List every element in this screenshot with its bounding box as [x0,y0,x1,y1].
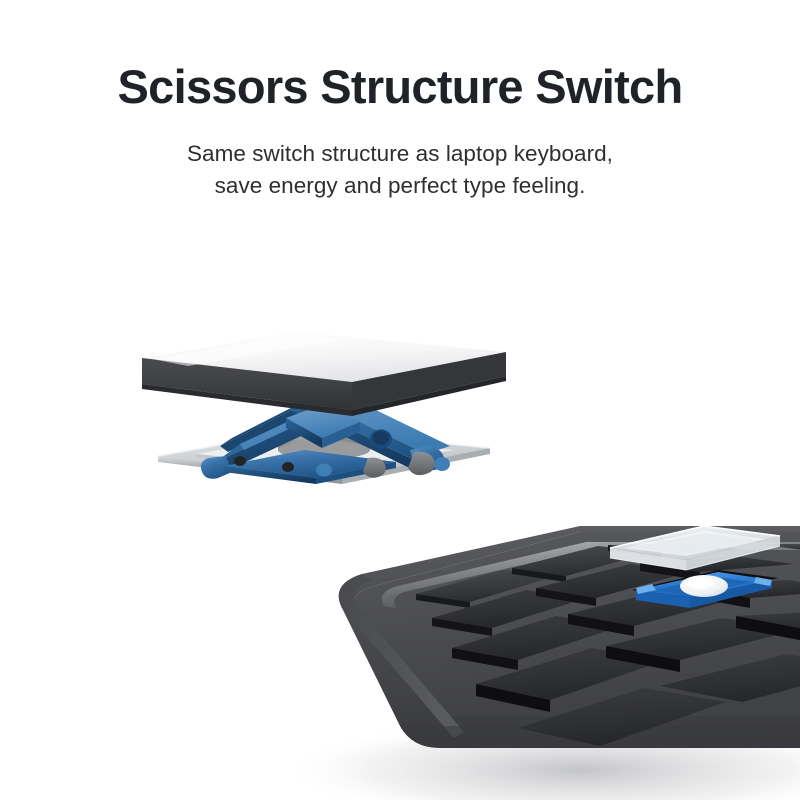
page-subtitle: Same switch structure as laptop keyboard… [0,138,800,202]
scissor-switch-illustration [128,326,520,496]
subtitle-line-2: save energy and perfect type feeling. [0,170,800,202]
keyboard-illustration [280,520,800,800]
product-marketing-image: Scissors Structure Switch Same switch st… [0,0,800,800]
keycap [142,332,506,416]
page-title: Scissors Structure Switch [0,62,800,113]
subtitle-line-1: Same switch structure as laptop keyboard… [0,138,800,170]
